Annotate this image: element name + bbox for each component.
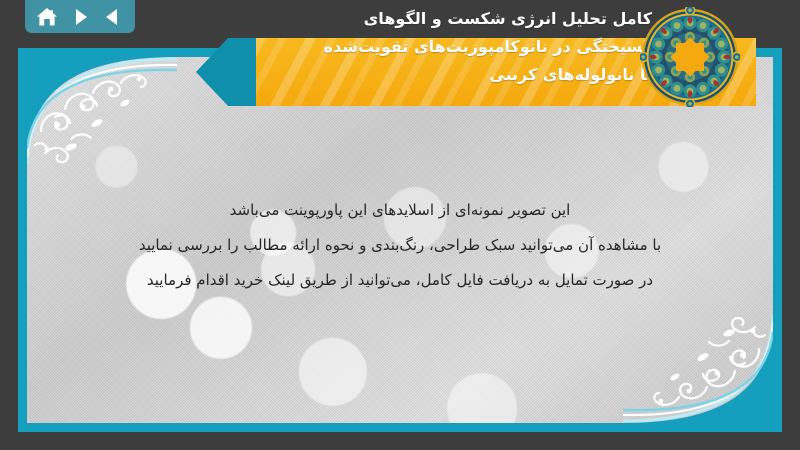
body-line-3: در صورت تمایل به دریافت فایل کامل، می‌تو…: [67, 263, 733, 298]
persian-medallion-ornament-icon: [640, 7, 740, 107]
navigation-toolbar: [25, 0, 135, 33]
home-button[interactable]: [33, 4, 61, 30]
title-line-2: گسیختگی در نانوکامپوزیت‌های تقویت‌شده: [266, 33, 652, 61]
home-icon: [36, 7, 58, 27]
slide-title-banner: کامل تحلیل انرژی شکست و الگوهای گسیختگی …: [196, 38, 756, 106]
back-button[interactable]: [99, 4, 127, 30]
slide-canvas: این تصویر نمونه‌ای از اسلایدهای این پاور…: [27, 57, 773, 423]
title-line-3: با نانولوله‌های کربنی: [266, 61, 652, 89]
forward-button[interactable]: [66, 4, 94, 30]
banner-arrow-shape: [196, 38, 258, 106]
triangle-left-icon: [103, 7, 123, 27]
title-line-1: کامل تحلیل انرژی شکست و الگوهای: [266, 5, 652, 33]
body-line-2: با مشاهده آن می‌توانید سبک طراحی، رنگ‌بن…: [67, 228, 733, 263]
persian-corner-ornament-icon: [623, 313, 773, 423]
page-title: کامل تحلیل انرژی شکست و الگوهای گسیختگی …: [266, 5, 652, 89]
persian-corner-ornament-icon: [27, 57, 177, 167]
slide-viewer: این تصویر نمونه‌ای از اسلایدهای این پاور…: [0, 0, 800, 450]
window-chrome-footer: [0, 432, 800, 450]
body-line-1: این تصویر نمونه‌ای از اسلایدهای این پاور…: [67, 193, 733, 228]
triangle-right-icon: [70, 7, 90, 27]
slide-body-text: این تصویر نمونه‌ای از اسلایدهای این پاور…: [67, 193, 733, 298]
